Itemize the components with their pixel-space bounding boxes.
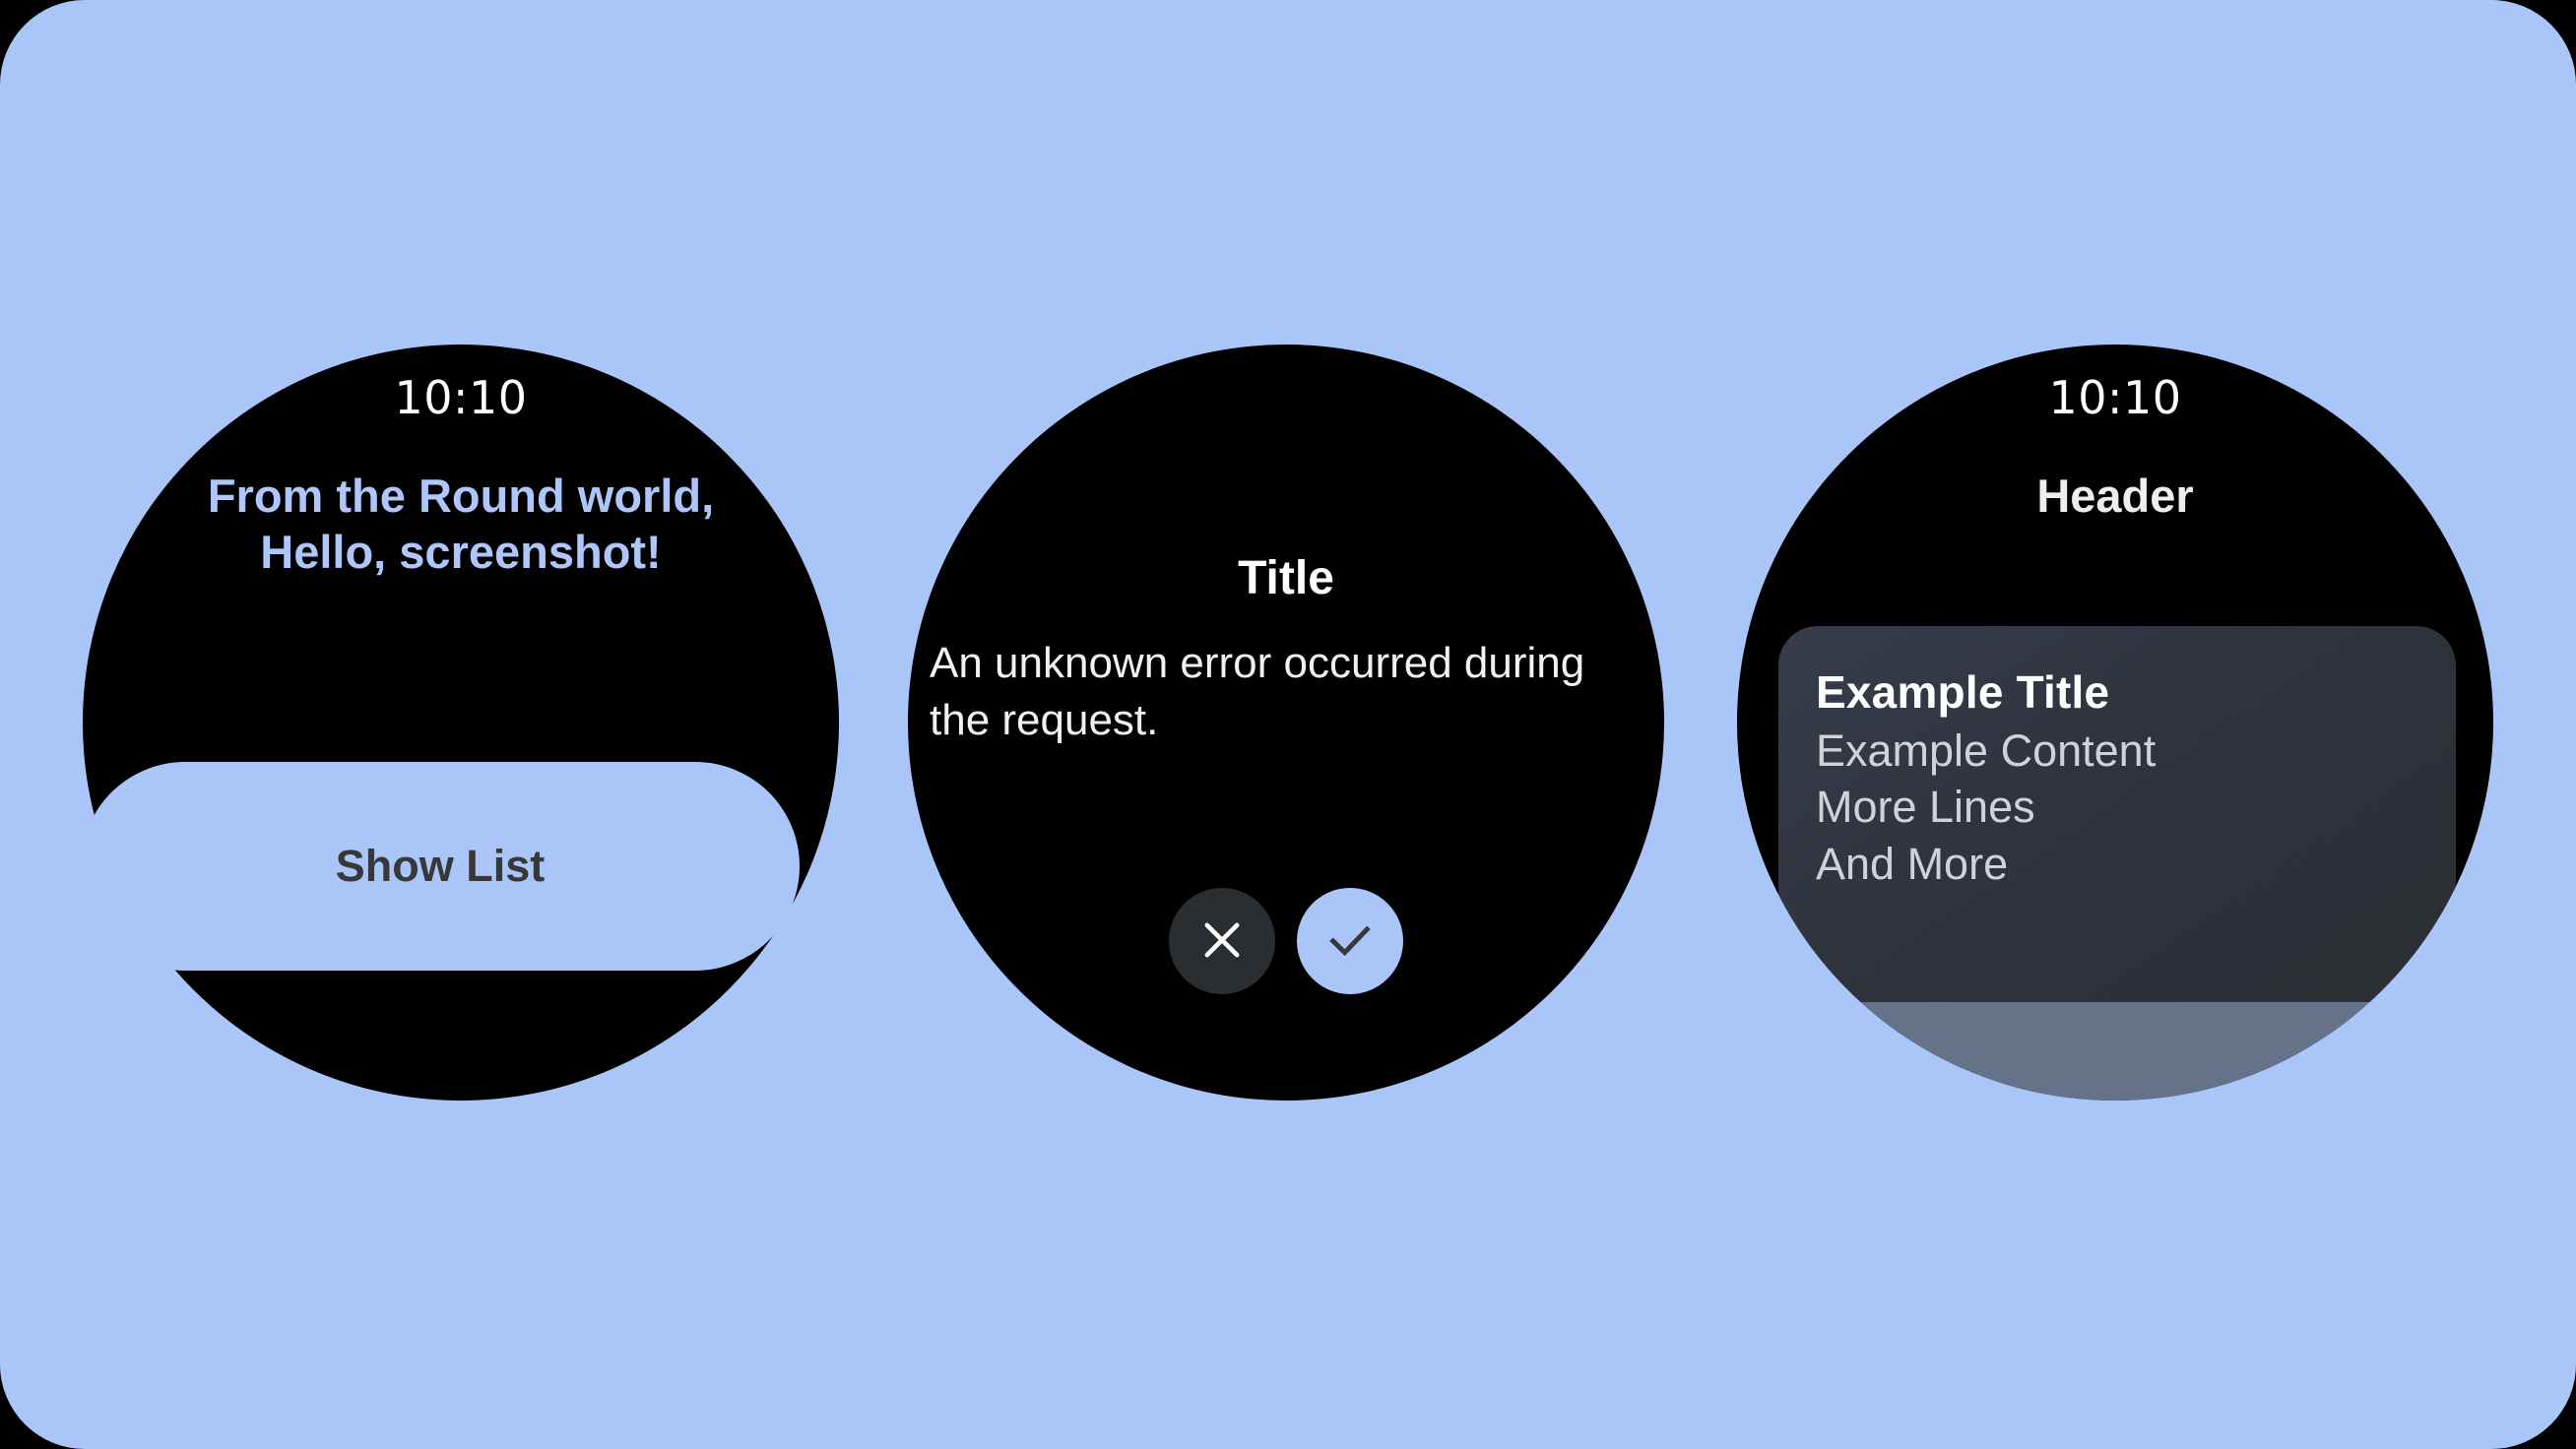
check-icon [1322,913,1378,971]
card-line: And More [1816,841,2418,889]
screenshot-canvas: 10:10 From the Round world, Hello, scree… [0,0,2576,1449]
show-list-button[interactable]: Show List [81,762,800,971]
dialog-title: Title [937,551,1635,605]
watch-3-screen: 10:10 Header Example Title Example Conte… [1737,345,2493,1101]
greeting-text: From the Round world, Hello, screenshot! [122,468,800,581]
watch-round-card-list: 10:10 Header Example Title Example Conte… [1737,345,2493,1101]
watch-2-screen: Title An unknown error occurred during t… [908,345,1664,1101]
card-line: Example Content [1816,727,2418,776]
card-line: More Lines [1816,784,2418,832]
card-title: Example Title [1816,667,2418,719]
confirm-button[interactable] [1297,888,1403,994]
close-icon [1196,914,1248,969]
example-card[interactable]: Example Title Example Content More Lines… [1778,626,2456,1002]
watch-round-alert-dialog: Title An unknown error occurred during t… [908,345,1664,1101]
dialog-action-row [908,888,1664,994]
watch-1-screen: 10:10 From the Round world, Hello, scree… [83,345,839,1101]
status-time: 10:10 [1737,371,2493,424]
status-time: 10:10 [83,371,839,424]
dialog-message: An unknown error occurred during the req… [930,635,1642,749]
watch-round-greeting: 10:10 From the Round world, Hello, scree… [83,345,839,1101]
dismiss-button[interactable] [1169,888,1275,994]
list-header: Header [1767,469,2464,523]
